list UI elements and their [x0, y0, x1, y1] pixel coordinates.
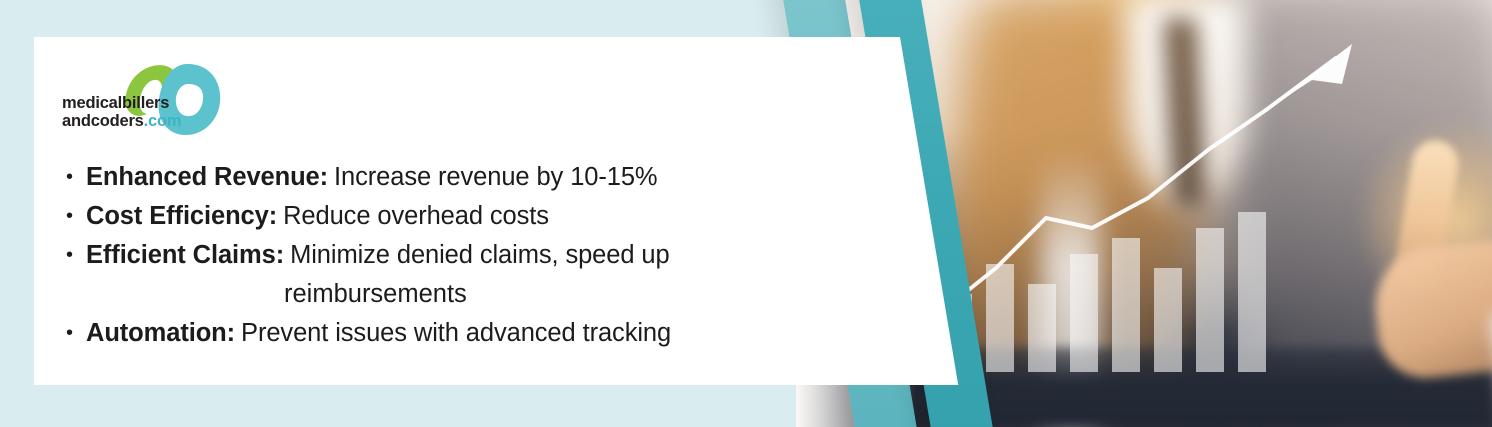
bullet-text: Prevent issues with advanced tracking	[241, 314, 671, 353]
logo-line-2: andcoders.com	[62, 112, 181, 130]
bullet-text: Increase revenue by 10-15%	[334, 158, 657, 197]
list-item: • Efficient Claims: Minimize denied clai…	[66, 236, 806, 275]
list-item: • Cost Efficiency: Reduce overhead costs	[66, 197, 806, 236]
bullet-dot-icon: •	[66, 158, 86, 197]
bullet-label: Automation:	[86, 314, 235, 353]
bullet-label: Efficient Claims:	[86, 236, 284, 275]
logo-line-1: medicalbillers	[62, 94, 181, 112]
benefits-list: • Enhanced Revenue: Increase revenue by …	[66, 158, 806, 353]
bullet-text: Minimize denied claims, speed up	[290, 236, 670, 275]
bullet-dot-icon: •	[66, 314, 86, 353]
promotional-banner: medicalbillers andcoders.com • Enhanced …	[0, 0, 1492, 427]
brand-logo[interactable]: medicalbillers andcoders.com	[62, 58, 232, 144]
bullet-dot-icon: •	[66, 236, 86, 275]
bullet-text: Reduce overhead costs	[283, 197, 549, 236]
bullet-dot-icon: •	[66, 197, 86, 236]
logo-wordmark: medicalbillers andcoders.com	[62, 94, 181, 131]
bullet-label: Cost Efficiency:	[86, 197, 277, 236]
list-item: • Enhanced Revenue: Increase revenue by …	[66, 158, 806, 197]
list-item: • Automation: Prevent issues with advanc…	[66, 314, 806, 353]
bullet-label: Enhanced Revenue:	[86, 158, 328, 197]
logo-dotcom: .com	[144, 112, 182, 130]
bullet-continuation: reimbursements	[66, 275, 806, 314]
